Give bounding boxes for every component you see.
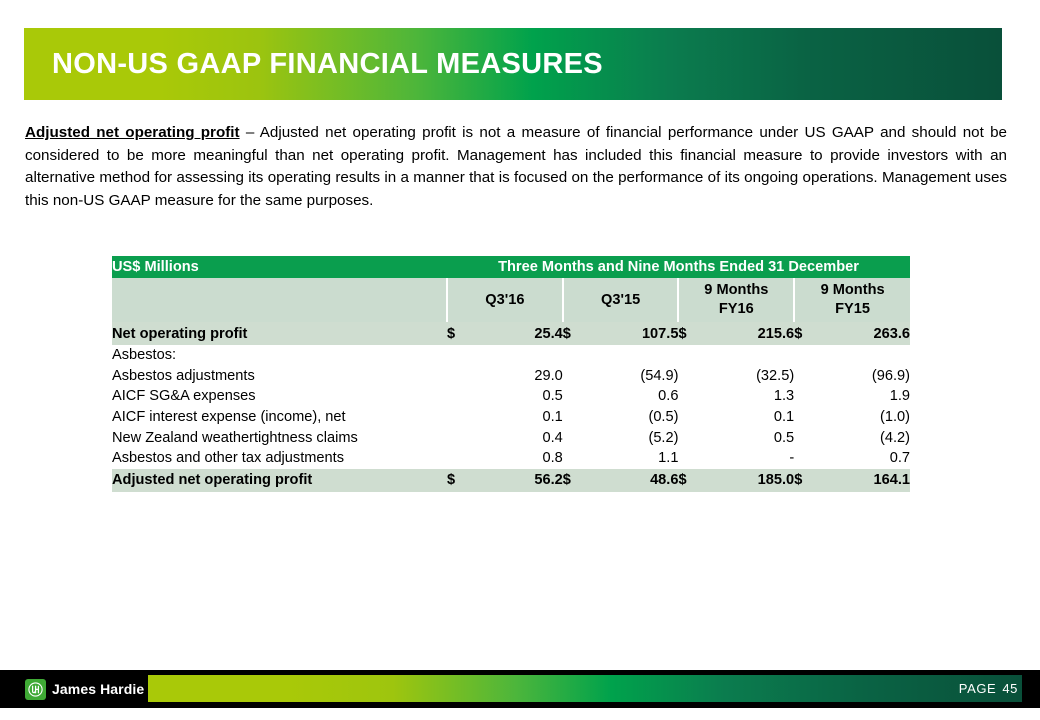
table-column-header-line1-3: 9 Months	[821, 282, 885, 298]
james-hardie-monogram-icon	[25, 679, 46, 700]
paragraph-lead-in: Adjusted net operating profit	[25, 124, 240, 141]
table-cell-currency	[794, 407, 818, 428]
table-column-header-line1-1: Q3'15	[601, 292, 640, 308]
page-indicator: PAGE45	[959, 681, 1018, 696]
table-cell-currency	[447, 366, 471, 387]
page-label-text: PAGE	[959, 681, 997, 696]
slide-canvas: NON-US GAAP FINANCIAL MEASURES Adjusted …	[0, 0, 1040, 720]
table-cell-value: 0.4	[471, 427, 562, 448]
table-cell-value: 164.1	[819, 469, 910, 492]
table-row: Asbestos adjustments29.0(54.9)(32.5)(96.…	[112, 366, 910, 387]
table-cell-value: 0.7	[819, 448, 910, 469]
table-row: AICF SG&A expenses0.50.61.31.9	[112, 386, 910, 407]
table-cell-value: 1.1	[587, 448, 678, 469]
table-cell-value: 0.8	[471, 448, 562, 469]
table-cell-currency	[563, 427, 587, 448]
table-cell-value: -	[703, 448, 794, 469]
table-cell-value: (4.2)	[819, 427, 910, 448]
table-cell-currency	[447, 345, 471, 366]
table-cell-value: 263.6	[819, 322, 910, 345]
financial-table: US$ MillionsThree Months and Nine Months…	[112, 256, 910, 492]
table-cell-currency: $	[563, 469, 587, 492]
table-cell-value	[587, 345, 678, 366]
table-cell-value: 107.5	[587, 322, 678, 345]
table-cell-value: 0.1	[703, 407, 794, 428]
table-row: Asbestos:	[112, 345, 910, 366]
table-column-header-line2-2: FY16	[719, 301, 754, 317]
table-header-row: US$ MillionsThree Months and Nine Months…	[112, 256, 910, 278]
table-cell-value: 48.6	[587, 469, 678, 492]
brand-name: James Hardie	[52, 681, 144, 697]
table-cell-value: (0.5)	[587, 407, 678, 428]
table-cell-value: 0.1	[471, 407, 562, 428]
table-cell-value	[703, 345, 794, 366]
table-subheader-row: Q3'16Q3'159 MonthsFY169 MonthsFY15	[112, 278, 910, 322]
table-units-label: US$ Millions	[112, 256, 447, 278]
table-column-header-1: Q3'15	[563, 278, 679, 322]
table-cell-value	[819, 345, 910, 366]
table-cell-value: 0.6	[587, 386, 678, 407]
table-cell-currency	[447, 407, 471, 428]
table-cell-value: 0.5	[703, 427, 794, 448]
table-row: AICF interest expense (income), net0.1(0…	[112, 407, 910, 428]
slide-title-banner: NON-US GAAP FINANCIAL MEASURES	[24, 28, 1002, 100]
table-cell-value: (96.9)	[819, 366, 910, 387]
table-row: Adjusted net operating profit$56.2$48.6$…	[112, 469, 910, 492]
table-column-header-line1-2: 9 Months	[704, 282, 768, 298]
table-cell-value: (1.0)	[819, 407, 910, 428]
table-cell-currency	[794, 386, 818, 407]
table-cell-currency	[678, 386, 702, 407]
table-cell-value: (32.5)	[703, 366, 794, 387]
table-row-label: Asbestos:	[112, 345, 447, 366]
table-column-header-line2-3: FY15	[835, 301, 870, 317]
table-row-label: Adjusted net operating profit	[112, 469, 447, 492]
table-cell-currency	[563, 386, 587, 407]
table-cell-value: 29.0	[471, 366, 562, 387]
table-column-header-line1-0: Q3'16	[485, 292, 524, 308]
table-cell-value: 25.4	[471, 322, 562, 345]
table-cell-currency	[678, 407, 702, 428]
table-cell-value: 56.2	[471, 469, 562, 492]
table-row-label: Net operating profit	[112, 322, 447, 345]
table-cell-value: 185.0	[703, 469, 794, 492]
table-row: New Zealand weathertightness claims0.4(5…	[112, 427, 910, 448]
table-row-label: AICF SG&A expenses	[112, 386, 447, 407]
table-cell-currency	[447, 386, 471, 407]
table-cell-currency	[678, 427, 702, 448]
table-cell-currency	[563, 366, 587, 387]
table-cell-currency: $	[563, 322, 587, 345]
table-row-label: Asbestos and other tax adjustments	[112, 448, 447, 469]
table-cell-currency: $	[678, 469, 702, 492]
table-cell-currency	[563, 407, 587, 428]
table-cell-currency	[447, 427, 471, 448]
table-cell-currency	[563, 345, 587, 366]
table-cell-currency	[447, 448, 471, 469]
body-paragraph: Adjusted net operating profit – Adjusted…	[25, 122, 1007, 212]
table-cell-value: (54.9)	[587, 366, 678, 387]
table-row-label: AICF interest expense (income), net	[112, 407, 447, 428]
table-cell-currency	[794, 366, 818, 387]
paragraph-dash: –	[240, 124, 260, 141]
table-period-title: Three Months and Nine Months Ended 31 De…	[447, 256, 910, 278]
table-row: Asbestos and other tax adjustments0.81.1…	[112, 448, 910, 469]
table-row: Net operating profit$25.4$107.5$215.6$26…	[112, 322, 910, 345]
table-cell-value: 1.9	[819, 386, 910, 407]
table-cell-value: 0.5	[471, 386, 562, 407]
table-cell-value: 215.6	[703, 322, 794, 345]
table-cell-currency: $	[678, 322, 702, 345]
table-cell-currency: $	[447, 322, 471, 345]
table-cell-currency	[794, 427, 818, 448]
table-cell-value: 1.3	[703, 386, 794, 407]
table-cell-value: (5.2)	[587, 427, 678, 448]
table-cell-currency	[678, 366, 702, 387]
table-cell-currency	[563, 448, 587, 469]
table-cell-currency: $	[794, 322, 818, 345]
footer-gradient-bar	[148, 675, 1022, 702]
table-cell-currency	[678, 448, 702, 469]
table-cell-currency	[678, 345, 702, 366]
table-cell-currency	[794, 448, 818, 469]
table-cell-value	[471, 345, 562, 366]
page-title: NON-US GAAP FINANCIAL MEASURES	[24, 48, 603, 81]
page-number: 45	[1002, 681, 1018, 696]
table-cell-currency	[794, 345, 818, 366]
table-row-label: Asbestos adjustments	[112, 366, 447, 387]
table-subheader-blank	[112, 278, 447, 322]
table-column-header-0: Q3'16	[447, 278, 563, 322]
table-column-header-2: 9 MonthsFY16	[678, 278, 794, 322]
table-row-label: New Zealand weathertightness claims	[112, 427, 447, 448]
brand-logo: James Hardie	[25, 678, 144, 700]
table-cell-currency: $	[794, 469, 818, 492]
table-cell-currency: $	[447, 469, 471, 492]
table-column-header-3: 9 MonthsFY15	[794, 278, 910, 322]
